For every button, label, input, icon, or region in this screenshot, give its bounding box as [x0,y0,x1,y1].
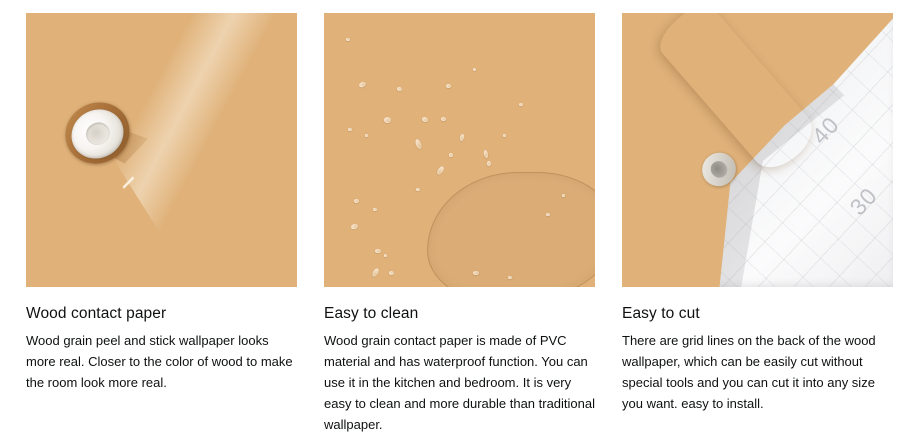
feature-heading: Easy to cut [622,304,893,324]
feature-card-easy-to-clean: Easy to clean Wood grain contact paper i… [324,13,595,435]
water-droplet [473,271,479,275]
feature-body: There are grid lines on the back of the … [622,330,893,414]
waterproof-droplets-photo [324,13,595,287]
water-droplet [487,161,491,166]
feature-grid: Wood contact paper Wood grain peel and s… [26,13,898,435]
grid-lined-backing-photo: 40 30 [622,13,893,287]
feature-body: Wood grain peel and stick wallpaper look… [26,330,297,393]
roll-tube-hole [708,158,731,181]
feature-heading: Easy to clean [324,304,595,324]
roll-core-hole [82,119,113,149]
water-droplet [365,134,368,137]
wood-contact-paper-roll-photo [26,13,297,287]
feature-heading: Wood contact paper [26,304,297,324]
water-droplet [449,153,453,157]
water-droplet [375,249,381,253]
water-droplet [346,38,350,41]
water-droplet [441,117,446,121]
water-droplet [384,254,387,257]
feature-card-easy-to-cut: 40 30 Easy to cut There are grid lines o… [622,13,893,435]
water-droplet [373,208,377,211]
water-droplet [389,271,394,275]
water-droplet [503,134,506,137]
feature-body: Wood grain contact paper is made of PVC … [324,330,595,435]
water-droplet [384,117,391,123]
feature-card-wood-contact-paper: Wood contact paper Wood grain peel and s… [26,13,297,435]
water-droplet [473,68,476,71]
